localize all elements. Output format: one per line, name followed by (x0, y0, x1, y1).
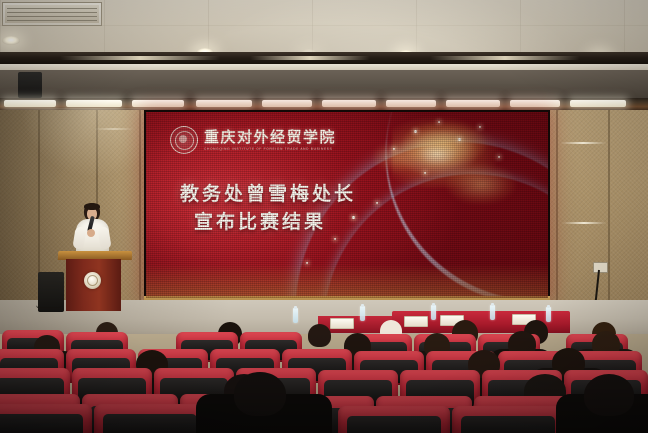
gold-particle-cloud (446, 164, 516, 204)
audience-head (584, 374, 634, 416)
sparkle (306, 262, 308, 264)
university-crest-icon (170, 126, 198, 154)
seat-row-foreground (0, 398, 648, 433)
woman-speaking-at-podium (70, 203, 114, 255)
auditorium-seat (0, 404, 92, 433)
water-bottle (546, 307, 551, 322)
panel-highlight-line (560, 142, 606, 144)
sparkle (479, 126, 481, 128)
truss-light (262, 100, 312, 107)
gold-particle-cloud (372, 142, 420, 172)
audience-head (234, 372, 286, 416)
speaker-cable (36, 305, 62, 308)
downlight (2, 36, 20, 45)
water-bottle (360, 306, 365, 321)
water-bottle (431, 305, 436, 320)
ceiling-vent-icon (2, 2, 102, 26)
sparkle (393, 148, 395, 150)
truss-light (570, 100, 626, 107)
auditorium-seat (452, 406, 564, 433)
podium-crest-icon (84, 272, 101, 289)
sparkle (438, 121, 440, 123)
screen-bottom-glow (146, 264, 548, 298)
sparkle (376, 202, 378, 204)
truss-light (446, 100, 500, 107)
speaker-hand (87, 229, 95, 237)
panel-highlight-line (94, 128, 134, 130)
sparkle (424, 172, 426, 174)
sparkle (334, 238, 336, 240)
auditorium-photo: 重庆对外经贸学院 CHONGQING INSTITUTE OF FOREIGN … (0, 0, 648, 433)
truss-light (196, 100, 252, 107)
screen-headline: 教务处曾雪梅处长 宣布比赛结果 (180, 180, 356, 236)
panel-highlight-line (562, 222, 606, 224)
soffit-glint (250, 56, 370, 60)
truss-light (4, 100, 56, 107)
auditorium-seat (338, 406, 450, 433)
school-logo: 重庆对外经贸学院 CHONGQING INSTITUTE OF FOREIGN … (170, 126, 336, 154)
sparkle (498, 156, 500, 158)
truss-light (510, 100, 560, 107)
school-name-en: CHONGQING INSTITUTE OF FOREIGN TRADE AND… (204, 147, 336, 151)
speaker-hair-front (84, 203, 100, 210)
truss-light (386, 100, 436, 107)
truss-light (322, 100, 376, 107)
headline-line-1: 教务处曾雪梅处长 (180, 183, 356, 205)
power-outlet-icon (593, 262, 608, 273)
sparkle (414, 130, 417, 133)
wall-speaker-icon (18, 72, 42, 98)
soffit-glint (430, 56, 580, 60)
led-screen: 重庆对外经贸学院 CHONGQING INSTITUTE OF FOREIGN … (146, 112, 548, 298)
soffit-glint (60, 56, 220, 60)
water-bottle (293, 308, 298, 323)
truss-light (132, 100, 184, 107)
headline-line-2: 宣布比赛结果 (194, 208, 356, 236)
sparkle (458, 138, 461, 141)
school-name-cn: 重庆对外经贸学院 (204, 130, 336, 145)
truss-light (66, 100, 122, 107)
panel-seam (608, 110, 610, 306)
panel-seam (556, 110, 558, 306)
water-bottle (490, 305, 495, 320)
auditorium-seat (94, 404, 206, 433)
